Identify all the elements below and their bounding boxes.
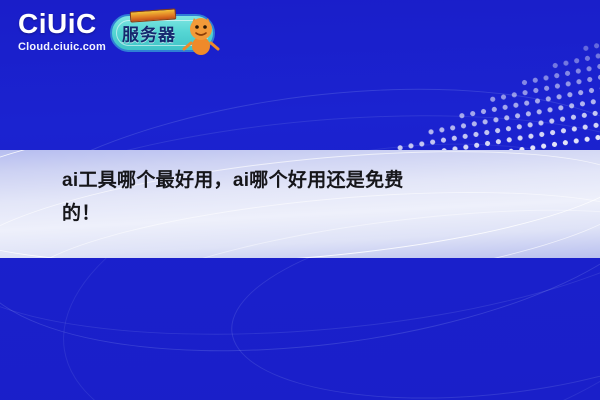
dot-grid-row: [580, 40, 600, 52]
dot-grid-row: [487, 71, 600, 104]
dot-grid-row: [394, 106, 600, 151]
dot-grid-row: [518, 59, 600, 86]
headline-line-2: 的！: [62, 197, 562, 230]
brand-logo: CiUiC Cloud.ciuic.com: [18, 10, 106, 53]
dot-grid-row: [456, 82, 600, 119]
server-badge: 服务器: [110, 14, 215, 52]
orange-cat-mascot-icon: [181, 10, 221, 56]
headline-line-1: ai工具哪个最好用，ai哪个好用还是免费: [62, 170, 404, 191]
headline-band: ai工具哪个最好用，ai哪个好用还是免费 的！: [0, 150, 600, 258]
dot-grid-row: [425, 94, 600, 136]
logo-wordmark: CiUiC: [18, 10, 106, 38]
promo-banner: CiUiC Cloud.ciuic.com 服务器 ai工具哪个最好用，ai哪个…: [0, 0, 600, 400]
dot-grid-row: [549, 48, 600, 69]
badge-label: 服务器: [122, 21, 176, 46]
headline-text: ai工具哪个最好用，ai哪个好用还是免费 的！: [62, 164, 562, 230]
logo-domain: Cloud.ciuic.com: [18, 42, 106, 53]
